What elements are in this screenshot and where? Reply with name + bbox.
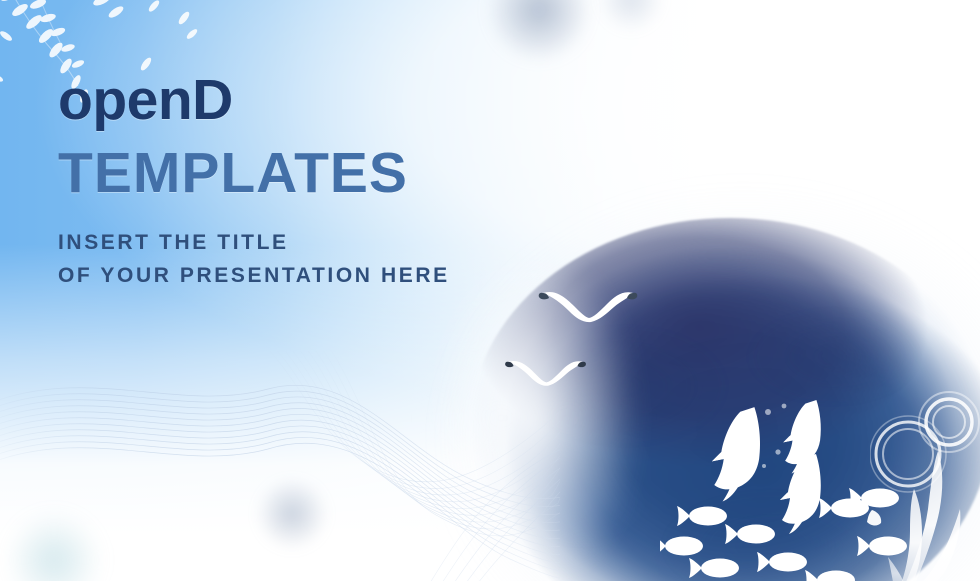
angelfish-1 bbox=[712, 407, 760, 501]
grass-fronds-decor bbox=[864, 447, 980, 581]
seagull-icon-lower bbox=[505, 361, 586, 386]
guilloche-wave-mesh bbox=[0, 351, 560, 581]
oval-fish-4 bbox=[689, 558, 739, 578]
templates-title: TEMPLATES bbox=[58, 145, 578, 202]
subtitle-line-2: OF YOUR PRESENTATION HERE bbox=[58, 260, 578, 293]
seagull-group bbox=[505, 285, 715, 400]
oval-fish-5 bbox=[757, 552, 807, 572]
bokeh-circle-top bbox=[487, 0, 591, 62]
oval-fish-6 bbox=[819, 498, 869, 518]
subtitle-line-1: INSERT THE TITLE bbox=[58, 227, 578, 260]
oval-fish-9 bbox=[805, 570, 855, 581]
subtitle-block: INSERT THE TITLE OF YOUR PRESENTATION HE… bbox=[58, 227, 578, 292]
seagull-icon-upper bbox=[539, 292, 638, 322]
angelfish-3 bbox=[780, 454, 821, 534]
oval-fish-2 bbox=[660, 536, 703, 556]
title-slide: openD TEMPLATES INSERT THE TITLE OF YOUR… bbox=[0, 0, 980, 581]
oval-fish-3 bbox=[725, 524, 775, 544]
title-block: openD TEMPLATES INSERT THE TITLE OF YOUR… bbox=[58, 72, 578, 292]
oval-fish-1 bbox=[677, 506, 727, 526]
bokeh-circle-top-right bbox=[598, 0, 664, 32]
brand-title: openD bbox=[58, 72, 578, 129]
